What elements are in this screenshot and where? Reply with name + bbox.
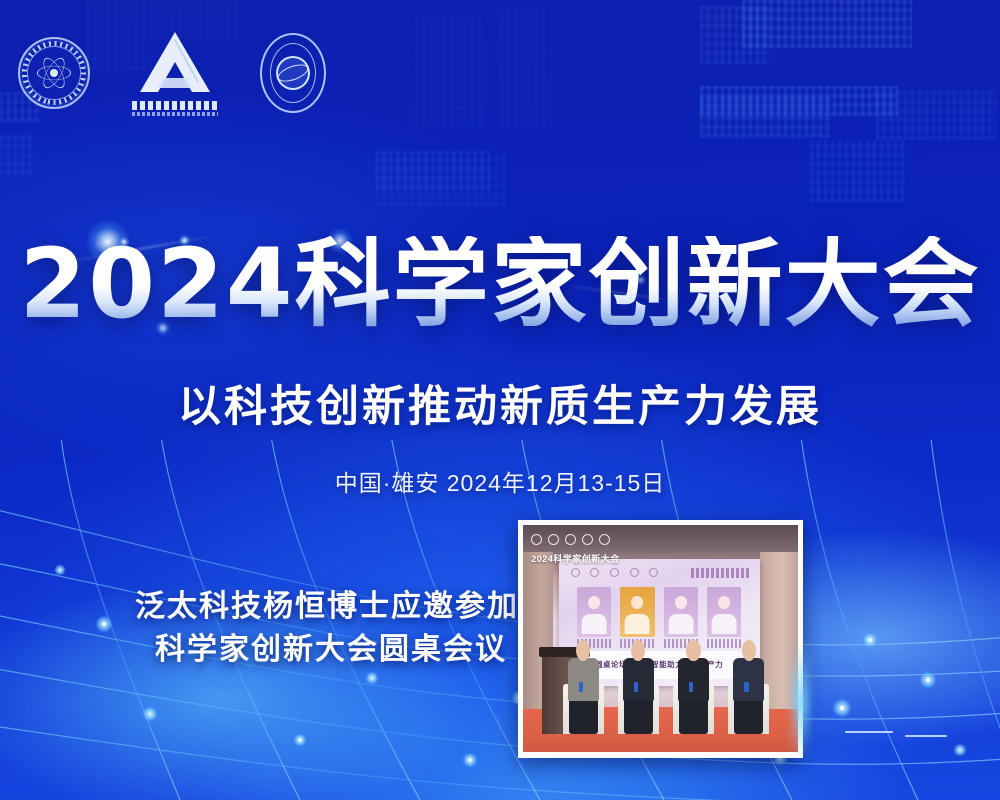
background-data-block bbox=[500, 8, 546, 128]
portrait-body bbox=[625, 614, 650, 634]
panelist-legs bbox=[569, 698, 599, 734]
speaker-portrait bbox=[707, 587, 742, 637]
background-data-block bbox=[376, 152, 506, 206]
event-photo: 2024科学家创新大会 bbox=[518, 520, 803, 758]
portrait-head bbox=[718, 596, 730, 609]
oval-seal-emblem-icon bbox=[276, 56, 310, 90]
speaker-portrait bbox=[577, 587, 612, 637]
panelist-legs bbox=[734, 698, 764, 734]
portrait-head bbox=[632, 596, 644, 609]
caption-line-1: 泛太科技杨恒博士应邀参加 bbox=[135, 586, 519, 629]
photo-overlay-title: 2024科学家创新大会 bbox=[531, 552, 620, 565]
oval-institute-seal-logo bbox=[260, 33, 326, 113]
screen-logo-icon bbox=[610, 568, 619, 577]
triangle-logo-subtext bbox=[132, 112, 218, 116]
background-data-block bbox=[700, 6, 770, 64]
caption-text: 泛太科技杨恒博士应邀参加 科学家创新大会圆桌会议 bbox=[135, 586, 519, 671]
atom-seal-icon bbox=[18, 37, 90, 109]
screen-logo-icon bbox=[649, 568, 658, 577]
background-data-block bbox=[810, 140, 905, 202]
background-data-block bbox=[742, 0, 912, 48]
overlay-logo-icon bbox=[599, 534, 610, 545]
triangle-logo-wordmark bbox=[132, 101, 218, 110]
panelist-torso bbox=[678, 658, 710, 702]
panelist-badge bbox=[634, 682, 638, 692]
background-data-block bbox=[415, 18, 485, 128]
portrait-head bbox=[675, 596, 687, 609]
circular-academy-seal-logo bbox=[18, 37, 90, 109]
oval-seal-icon bbox=[260, 33, 326, 113]
overlay-logo-icon bbox=[582, 534, 593, 545]
background-data-block bbox=[700, 86, 898, 116]
panelist-legs bbox=[679, 698, 709, 734]
photo-overlay-logos bbox=[531, 534, 610, 545]
panelist-badge bbox=[579, 682, 583, 692]
background-data-block bbox=[375, 150, 490, 190]
portrait-head bbox=[588, 596, 600, 609]
panelist-legs bbox=[624, 698, 654, 734]
panelist-badge bbox=[689, 682, 693, 692]
background-data-block bbox=[700, 96, 830, 138]
atom-nucleus-icon bbox=[50, 69, 58, 77]
event-photo-image: 2024科学家创新大会 bbox=[523, 525, 798, 752]
screen-logo-icon bbox=[571, 568, 580, 577]
speaker-portrait bbox=[620, 587, 655, 637]
screen-brand-wordmark bbox=[691, 568, 751, 578]
panelist-torso bbox=[568, 658, 600, 702]
background-data-block bbox=[0, 135, 34, 175]
portrait-body bbox=[582, 614, 607, 634]
triangle-a-icon bbox=[138, 30, 212, 96]
portrait-body bbox=[712, 614, 737, 634]
conference-poster: 2024科学家创新大会 以科技创新推动新质生产力发展 中国·雄安 2024年12… bbox=[0, 0, 1000, 800]
panelist bbox=[727, 639, 771, 734]
panelist-head bbox=[742, 640, 756, 661]
panelist bbox=[562, 639, 606, 734]
background-data-block bbox=[876, 90, 996, 140]
panelist-torso bbox=[623, 658, 655, 702]
page-subtitle: 以科技创新推动新质生产力发展 bbox=[0, 386, 1000, 429]
panelist bbox=[672, 639, 716, 734]
panelists-row bbox=[562, 639, 771, 734]
caption-line-2: 科学家创新大会圆桌会议 bbox=[135, 629, 519, 672]
screen-logo-icon bbox=[630, 568, 639, 577]
overlay-logo-icon bbox=[548, 534, 559, 545]
logo-bar bbox=[18, 30, 326, 116]
screen-logo-icon bbox=[590, 568, 599, 577]
page-title: 2024科学家创新大会 bbox=[0, 236, 1000, 332]
overlay-logo-icon bbox=[531, 534, 542, 545]
overlay-logo-icon bbox=[565, 534, 576, 545]
panelist-badge bbox=[744, 682, 748, 692]
panelist bbox=[617, 639, 661, 734]
triangle-a-logo bbox=[132, 30, 218, 116]
panelist-head bbox=[686, 640, 700, 661]
event-location-date: 中国·雄安 2024年12月13-15日 bbox=[0, 472, 1000, 495]
portrait-body bbox=[668, 614, 693, 634]
panelist-torso bbox=[733, 658, 765, 702]
speaker-portrait bbox=[664, 587, 699, 637]
